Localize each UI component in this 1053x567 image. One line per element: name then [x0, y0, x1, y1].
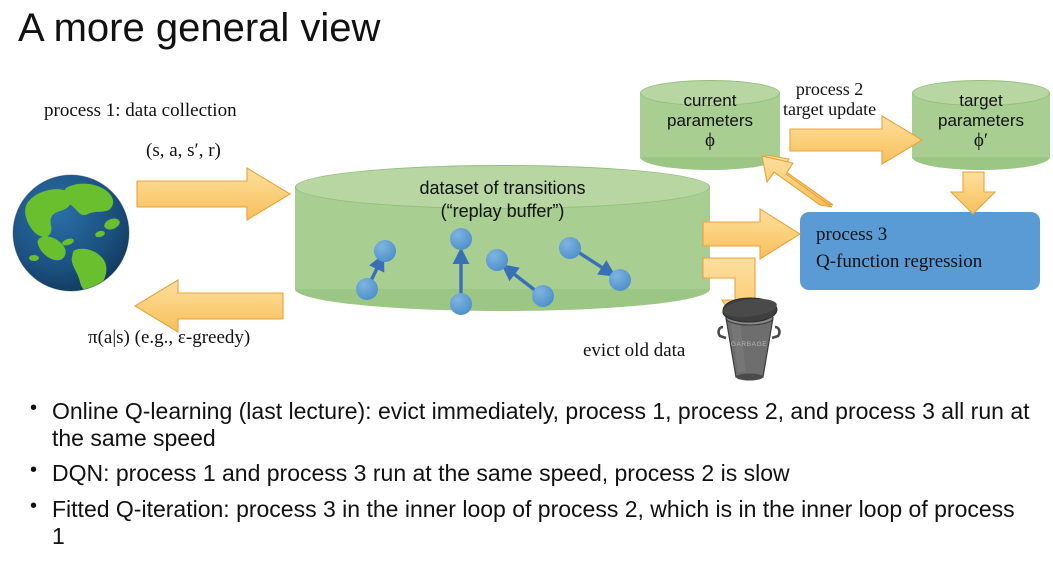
list-item: • Fitted Q-iteration: process 3 in the i…	[22, 496, 1032, 549]
process-2-label-line1: process 2	[783, 79, 876, 99]
garbage-can-icon: GARBAGE	[719, 296, 780, 380]
bullet-marker: •	[30, 495, 37, 518]
current-parameters-line1: current	[640, 91, 780, 111]
process-1-label: process 1: data collection	[44, 100, 237, 122]
arrow-current-to-target-params	[790, 116, 922, 164]
process-2-label: process 2 target update	[783, 79, 876, 119]
target-parameters-label: target parameters ϕ′	[912, 91, 1050, 152]
arrow-buffer-to-trash	[703, 258, 768, 338]
process-3-line2: Q-function regression	[816, 249, 982, 276]
target-parameters-line2: parameters	[912, 111, 1050, 131]
list-item: • DQN: process 1 and process 3 run at th…	[22, 460, 1032, 487]
process-3-line1: process 3	[816, 222, 982, 249]
slide-canvas: A more general view process 1: data coll…	[0, 0, 1053, 567]
current-parameters-line2: parameters	[640, 111, 780, 131]
bullet-marker: •	[30, 397, 37, 420]
bullet-marker: •	[30, 459, 37, 482]
garbage-can-text: GARBAGE	[731, 341, 767, 348]
bullet-text: DQN: process 1 and process 3 run at the …	[52, 460, 790, 486]
world-globe-icon	[12, 162, 130, 304]
replay-buffer-label: dataset of transitions (“replay buffer”)	[295, 177, 710, 222]
bullet-list: • Online Q-learning (last lecture): evic…	[22, 398, 1032, 558]
current-parameters-label: current parameters ϕ	[640, 91, 780, 152]
arrow-target-params-to-process3	[951, 172, 995, 214]
process-2-label-line2: target update	[783, 99, 876, 119]
bullet-text: Online Q-learning (last lecture): evict …	[52, 398, 1030, 451]
arrow-buffer-to-process3	[703, 209, 800, 259]
arrow-world-to-buffer	[137, 168, 290, 220]
policy-label: π(a|s) (e.g., ε-greedy)	[88, 327, 250, 349]
process-3-text: process 3 Q-function regression	[816, 222, 982, 276]
replay-buffer-line1: dataset of transitions	[295, 177, 710, 200]
current-parameters-cylinder: current parameters ϕ	[640, 80, 780, 170]
evict-old-data-label: evict old data	[583, 340, 685, 362]
list-item: • Online Q-learning (last lecture): evic…	[22, 398, 1032, 451]
arrow-buffer-to-world	[135, 280, 283, 332]
page-title: A more general view	[18, 6, 380, 51]
target-parameters-symbol: ϕ′	[912, 130, 1050, 152]
replay-buffer-line2: (“replay buffer”)	[295, 200, 710, 223]
target-parameters-line1: target	[912, 91, 1050, 111]
transition-tuple-label: (s, a, s′, r)	[146, 140, 221, 162]
process-3-box: process 3 Q-function regression	[800, 212, 1040, 290]
replay-buffer-cylinder: dataset of transitions (“replay buffer”)	[295, 165, 710, 311]
target-parameters-cylinder: target parameters ϕ′	[912, 80, 1050, 170]
current-parameters-symbol: ϕ	[640, 130, 780, 152]
bullet-text: Fitted Q-iteration: process 3 in the inn…	[52, 496, 1015, 549]
